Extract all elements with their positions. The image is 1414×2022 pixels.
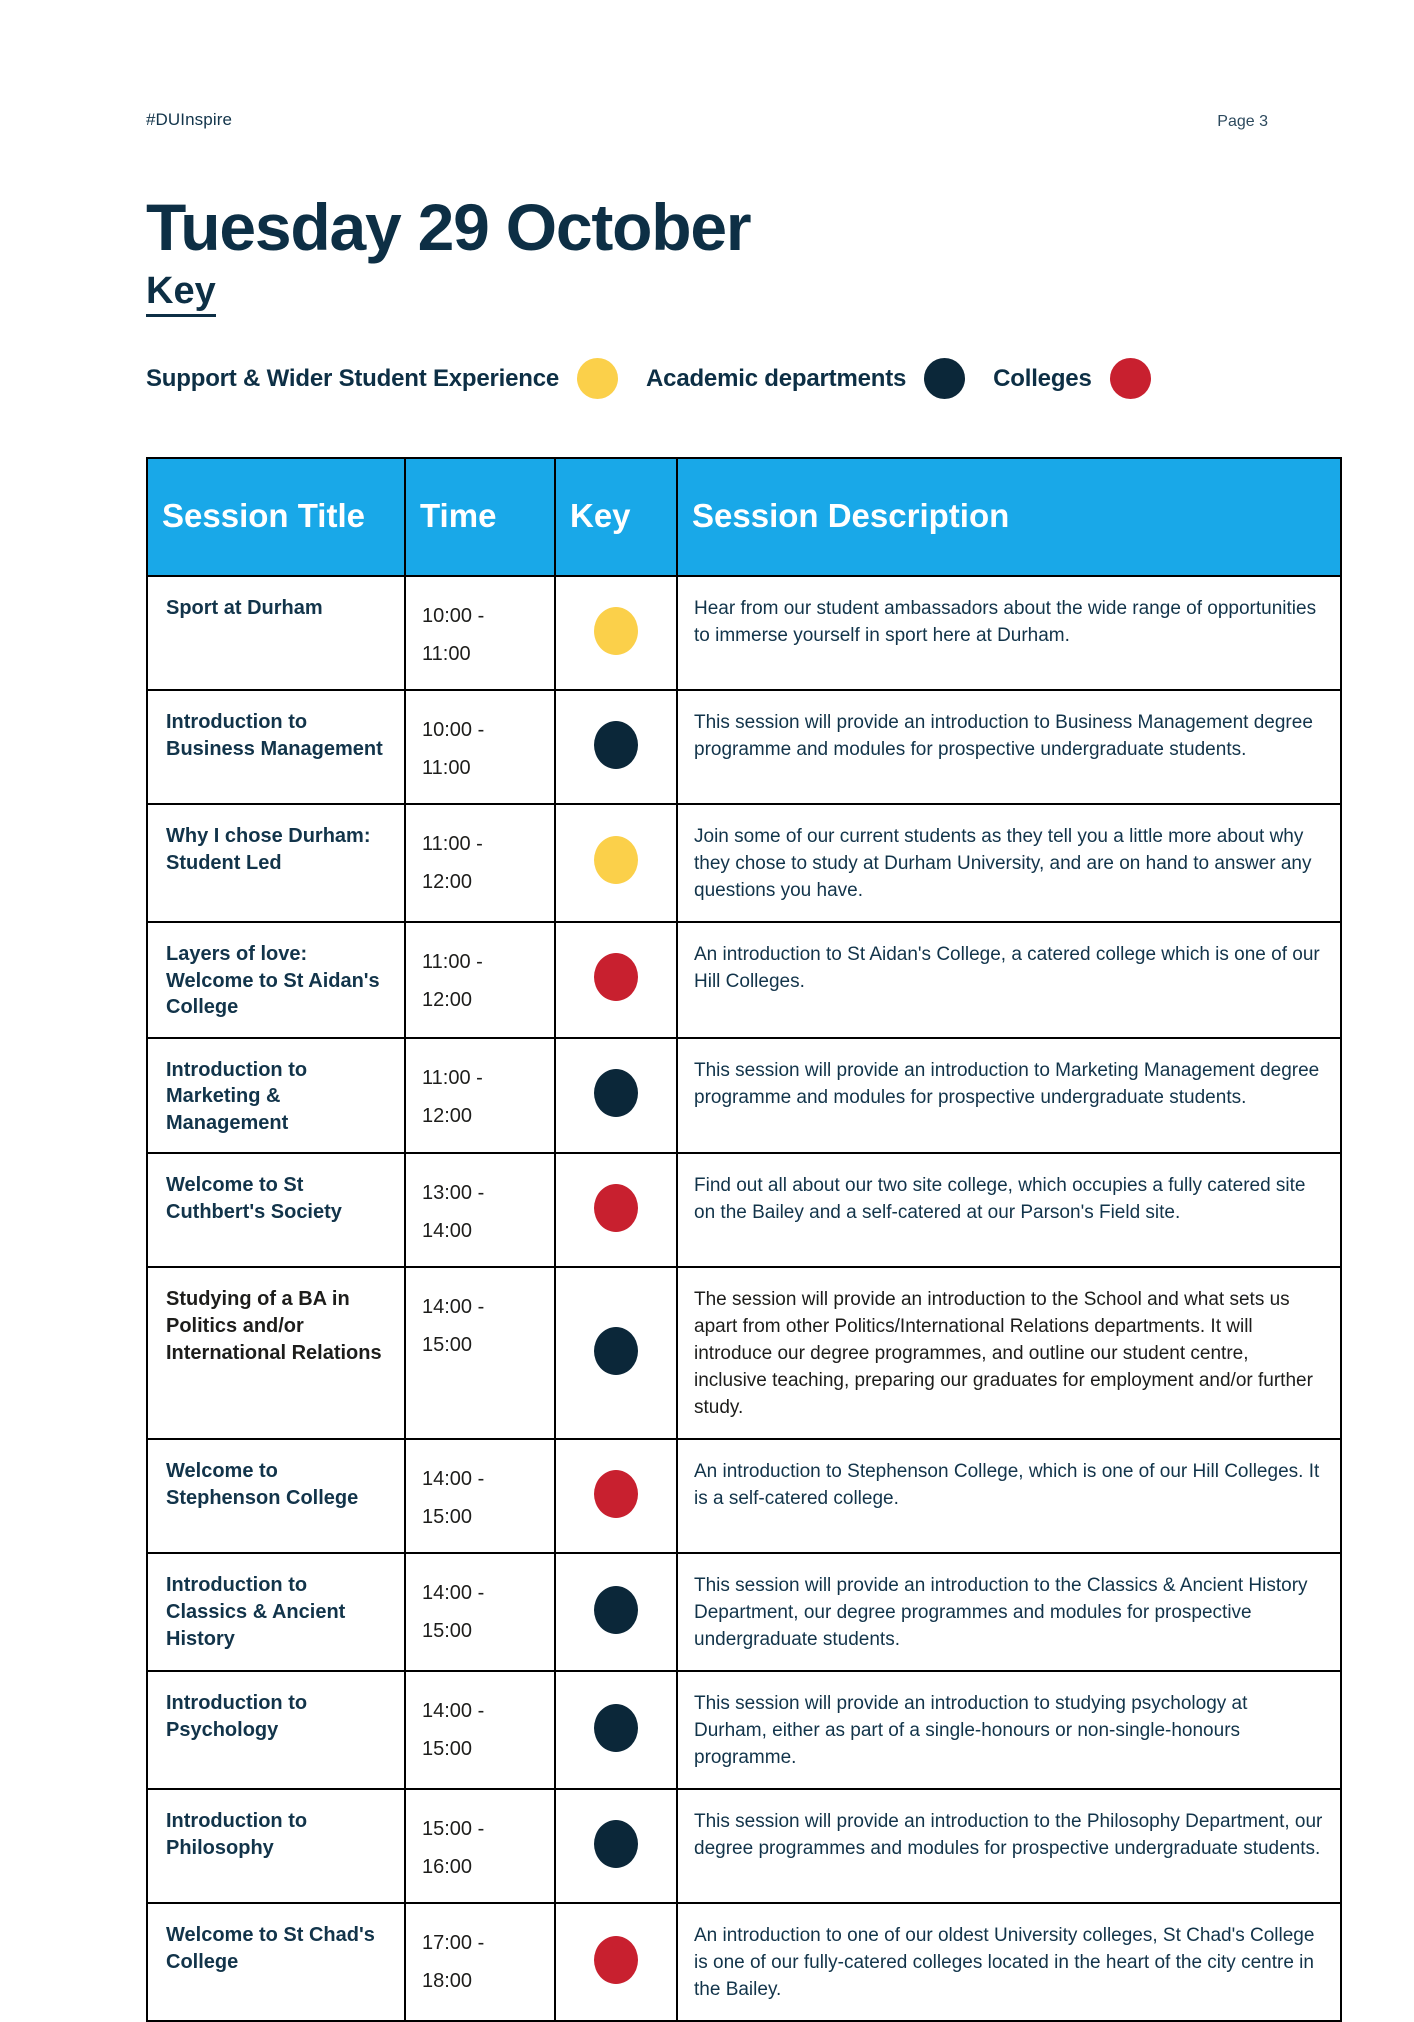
cell-session-description: This session will provide an introductio… bbox=[677, 1789, 1341, 1903]
cell-session-description: Find out all about our two site college,… bbox=[677, 1153, 1341, 1267]
table-row: Sport at Durham10:00 - 11:00Hear from ou… bbox=[147, 576, 1341, 690]
schedule-page: #DUInspire Page 3 Tuesday 29 October Key… bbox=[0, 0, 1414, 2000]
support-dot-icon bbox=[577, 358, 618, 399]
cell-session-title: Introduction to Classics & Ancient Histo… bbox=[147, 1553, 405, 1671]
cell-session-title: Introduction to Business Management bbox=[147, 690, 405, 804]
table-row: Welcome to St Cuthbert's Society13:00 - … bbox=[147, 1153, 1341, 1267]
table-row: Introduction to Philosophy15:00 - 16:00T… bbox=[147, 1789, 1341, 1903]
legend-label-colleges: Colleges bbox=[993, 365, 1091, 393]
colleges-dot-icon bbox=[594, 1470, 638, 1518]
academic-dot-icon bbox=[594, 721, 638, 769]
cell-key bbox=[555, 1267, 677, 1439]
table-row: Introduction to Marketing & Management11… bbox=[147, 1038, 1341, 1154]
cell-key bbox=[555, 1671, 677, 1789]
colleges-dot-icon bbox=[1110, 358, 1151, 399]
cell-time: 14:00 - 15:00 bbox=[405, 1553, 555, 1671]
table-row: Welcome to St Chad's College17:00 - 18:0… bbox=[147, 1903, 1341, 2021]
cell-session-title: Introduction to Psychology bbox=[147, 1671, 405, 1789]
cell-time: 13:00 - 14:00 bbox=[405, 1153, 555, 1267]
colleges-dot-icon bbox=[594, 1936, 638, 1984]
table-row: Introduction to Psychology14:00 - 15:00T… bbox=[147, 1671, 1341, 1789]
academic-dot-icon bbox=[594, 1704, 638, 1752]
cell-key bbox=[555, 1153, 677, 1267]
column-header-key: Key bbox=[555, 458, 677, 576]
cell-session-title: Sport at Durham bbox=[147, 576, 405, 690]
colleges-dot-icon bbox=[594, 1184, 638, 1232]
academic-dot-icon bbox=[594, 1586, 638, 1634]
cell-session-title: Welcome to St Chad's College bbox=[147, 1903, 405, 2021]
cell-time: 11:00 - 12:00 bbox=[405, 804, 555, 922]
cell-key bbox=[555, 922, 677, 1038]
cell-time: 10:00 - 11:00 bbox=[405, 576, 555, 690]
table-row: Introduction to Business Management10:00… bbox=[147, 690, 1341, 804]
legend-item-academic: Academic departments bbox=[646, 358, 993, 399]
cell-session-description: This session will provide an introductio… bbox=[677, 1038, 1341, 1154]
table-row: Studying of a BA in Politics and/or Inte… bbox=[147, 1267, 1341, 1439]
schedule-table: Session Title Time Key Session Descripti… bbox=[146, 457, 1342, 2022]
cell-key bbox=[555, 804, 677, 922]
cell-key bbox=[555, 1038, 677, 1154]
support-dot-icon bbox=[594, 607, 638, 655]
cell-session-description: An introduction to one of our oldest Uni… bbox=[677, 1903, 1341, 2021]
colleges-dot-icon bbox=[594, 953, 638, 1001]
cell-session-title: Introduction to Philosophy bbox=[147, 1789, 405, 1903]
cell-key bbox=[555, 1439, 677, 1553]
key-heading: Key bbox=[146, 272, 216, 317]
cell-time: 11:00 - 12:00 bbox=[405, 1038, 555, 1154]
table-row: Introduction to Classics & Ancient Histo… bbox=[147, 1553, 1341, 1671]
cell-time: 10:00 - 11:00 bbox=[405, 690, 555, 804]
event-hashtag: #DUInspire bbox=[146, 110, 232, 130]
table-header-row: Session Title Time Key Session Descripti… bbox=[147, 458, 1341, 576]
cell-session-description: Hear from our student ambassadors about … bbox=[677, 576, 1341, 690]
cell-time: 15:00 - 16:00 bbox=[405, 1789, 555, 1903]
legend-item-colleges: Colleges bbox=[993, 358, 1150, 399]
academic-dot-icon bbox=[594, 1069, 638, 1117]
cell-key bbox=[555, 576, 677, 690]
cell-time: 14:00 - 15:00 bbox=[405, 1671, 555, 1789]
cell-session-description: An introduction to Stephenson College, w… bbox=[677, 1439, 1341, 1553]
table-body: Sport at Durham10:00 - 11:00Hear from ou… bbox=[147, 576, 1341, 2021]
column-header-session-description: Session Description bbox=[677, 458, 1341, 576]
cell-session-title: Why I chose Durham: Student Led bbox=[147, 804, 405, 922]
cell-time: 14:00 - 15:00 bbox=[405, 1439, 555, 1553]
cell-session-title: Welcome to St Cuthbert's Society bbox=[147, 1153, 405, 1267]
cell-session-description: This session will provide an introductio… bbox=[677, 1553, 1341, 1671]
table-row: Why I chose Durham: Student Led11:00 - 1… bbox=[147, 804, 1341, 922]
column-header-time: Time bbox=[405, 458, 555, 576]
page-title: Tuesday 29 October bbox=[146, 194, 750, 260]
cell-session-title: Welcome to Stephenson College bbox=[147, 1439, 405, 1553]
legend-label-support: Support & Wider Student Experience bbox=[146, 365, 559, 393]
cell-time: 11:00 - 12:00 bbox=[405, 922, 555, 1038]
cell-session-description: The session will provide an introduction… bbox=[677, 1267, 1341, 1439]
table-row: Welcome to Stephenson College14:00 - 15:… bbox=[147, 1439, 1341, 1553]
page-number: Page 3 bbox=[1217, 113, 1268, 131]
cell-time: 14:00 - 15:00 bbox=[405, 1267, 555, 1439]
cell-session-title: Layers of love: Welcome to St Aidan's Co… bbox=[147, 922, 405, 1038]
cell-session-title: Introduction to Marketing & Management bbox=[147, 1038, 405, 1154]
page-top-bar: #DUInspire Page 3 bbox=[146, 110, 1268, 140]
legend-label-academic: Academic departments bbox=[646, 365, 906, 393]
cell-time: 17:00 - 18:00 bbox=[405, 1903, 555, 2021]
cell-session-description: Join some of our current students as the… bbox=[677, 804, 1341, 922]
table-row: Layers of love: Welcome to St Aidan's Co… bbox=[147, 922, 1341, 1038]
cell-key bbox=[555, 1553, 677, 1671]
cell-session-description: An introduction to St Aidan's College, a… bbox=[677, 922, 1341, 1038]
academic-dot-icon bbox=[594, 1327, 638, 1375]
cell-session-description: This session will provide an introductio… bbox=[677, 690, 1341, 804]
column-header-session-title: Session Title bbox=[147, 458, 405, 576]
legend-item-support: Support & Wider Student Experience bbox=[146, 358, 646, 399]
cell-key bbox=[555, 1789, 677, 1903]
cell-key bbox=[555, 690, 677, 804]
academic-dot-icon bbox=[594, 1820, 638, 1868]
cell-session-description: This session will provide an introductio… bbox=[677, 1671, 1341, 1789]
key-legend: Support & Wider Student Experience Acade… bbox=[146, 358, 1151, 399]
support-dot-icon bbox=[594, 836, 638, 884]
cell-session-title: Studying of a BA in Politics and/or Inte… bbox=[147, 1267, 405, 1439]
cell-key bbox=[555, 1903, 677, 2021]
table-header: Session Title Time Key Session Descripti… bbox=[147, 458, 1341, 576]
academic-dot-icon bbox=[924, 358, 965, 399]
